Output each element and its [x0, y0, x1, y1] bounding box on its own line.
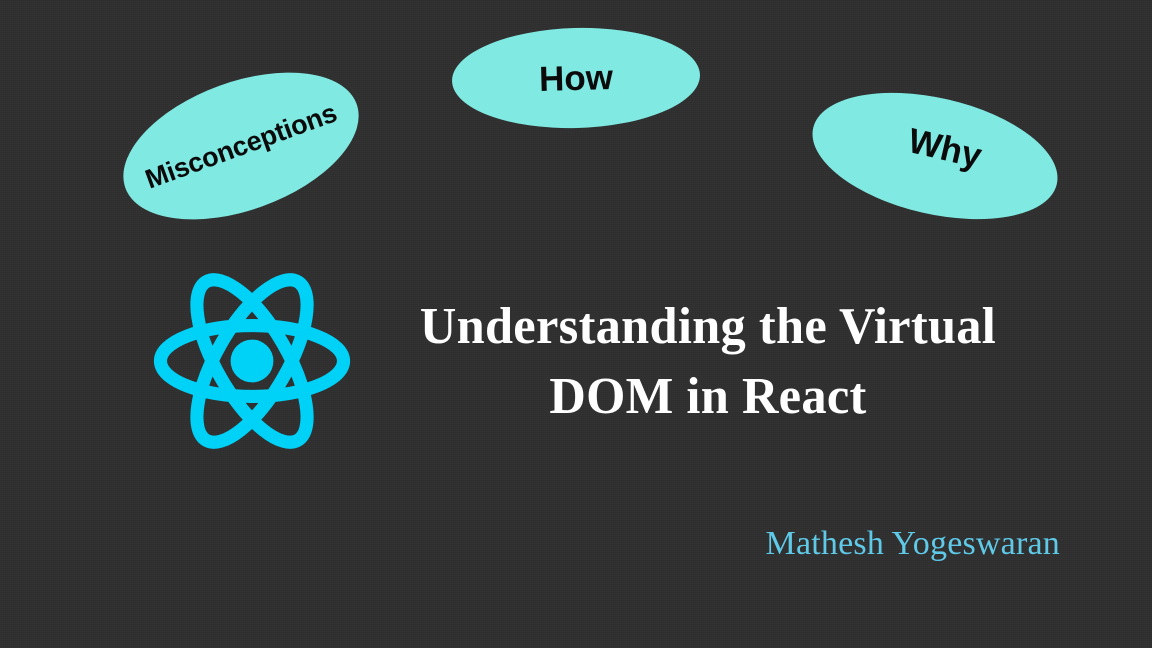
author-name: Mathesh Yogeswaran	[640, 524, 1060, 565]
presentation-slide: Misconceptions How Why Understanding the…	[0, 0, 1152, 648]
topic-bubble-why-label: Why	[905, 123, 985, 174]
slide-title: Understanding the Virtual DOM in React	[388, 292, 1028, 431]
slide-title-line-1: Understanding the Virtual	[388, 292, 1028, 362]
react-logo-icon	[148, 266, 356, 456]
topic-bubble-why[interactable]: Why	[800, 71, 1070, 240]
slide-title-line-2: DOM in React	[388, 362, 1028, 432]
topic-bubble-misconceptions-label: Misconceptions	[142, 99, 340, 193]
topic-bubble-how-label: How	[539, 60, 614, 97]
topic-bubble-how[interactable]: How	[451, 25, 702, 131]
topic-bubble-misconceptions[interactable]: Misconceptions	[104, 44, 379, 248]
